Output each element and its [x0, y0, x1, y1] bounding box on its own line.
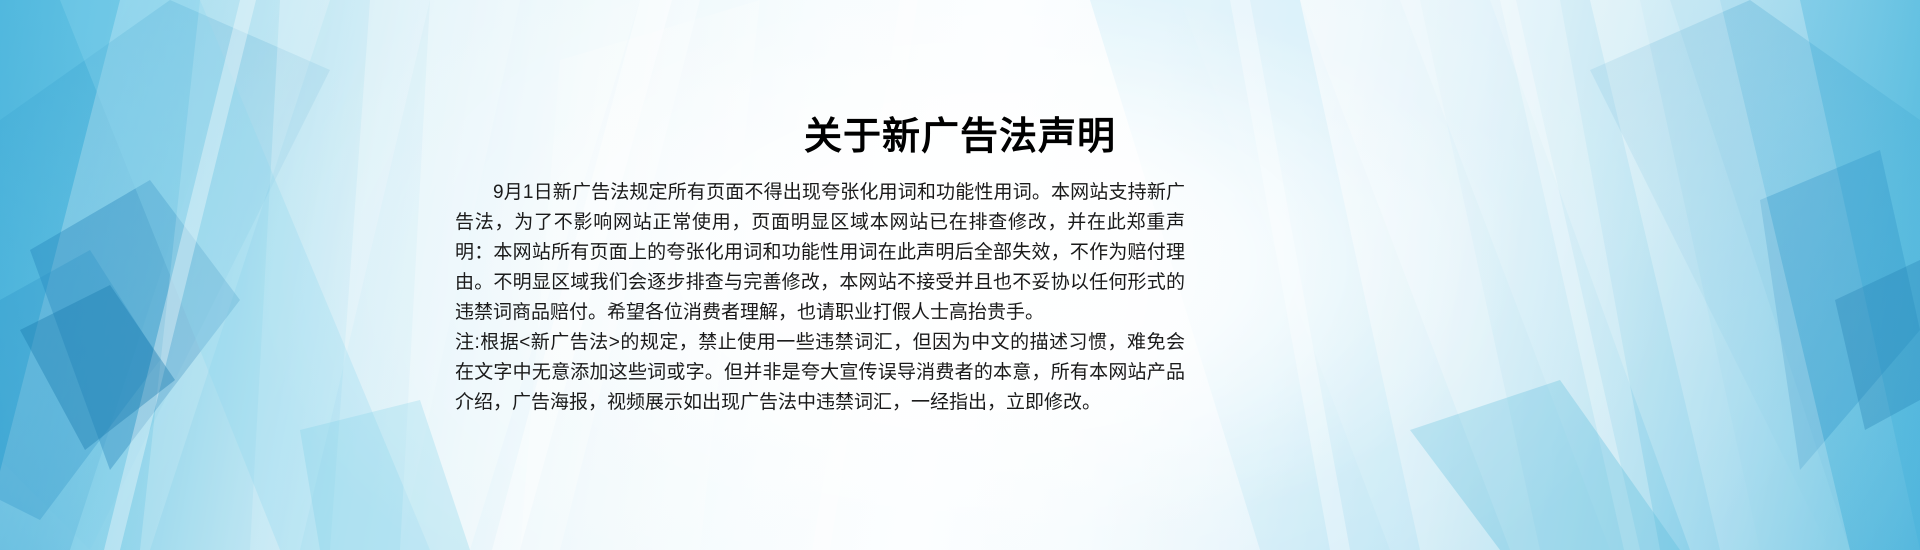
- statement-paragraph-main: 9月1日新广告法规定所有页面不得出现夸张化用词和功能性用词。本网站支持新广告法，…: [455, 178, 1185, 328]
- statement-content: 关于新广告法声明 9月1日新广告法规定所有页面不得出现夸张化用词和功能性用词。本…: [0, 0, 1920, 550]
- advertising-law-statement-banner: 关于新广告法声明 9月1日新广告法规定所有页面不得出现夸张化用词和功能性用词。本…: [0, 0, 1920, 550]
- page-title: 关于新广告法声明: [0, 115, 1920, 159]
- statement-body: 9月1日新广告法规定所有页面不得出现夸张化用词和功能性用词。本网站支持新广告法，…: [455, 178, 1185, 418]
- statement-paragraph-note: 注:根据<新广告法>的规定，禁止使用一些违禁词汇，但因为中文的描述习惯，难免会在…: [455, 328, 1185, 418]
